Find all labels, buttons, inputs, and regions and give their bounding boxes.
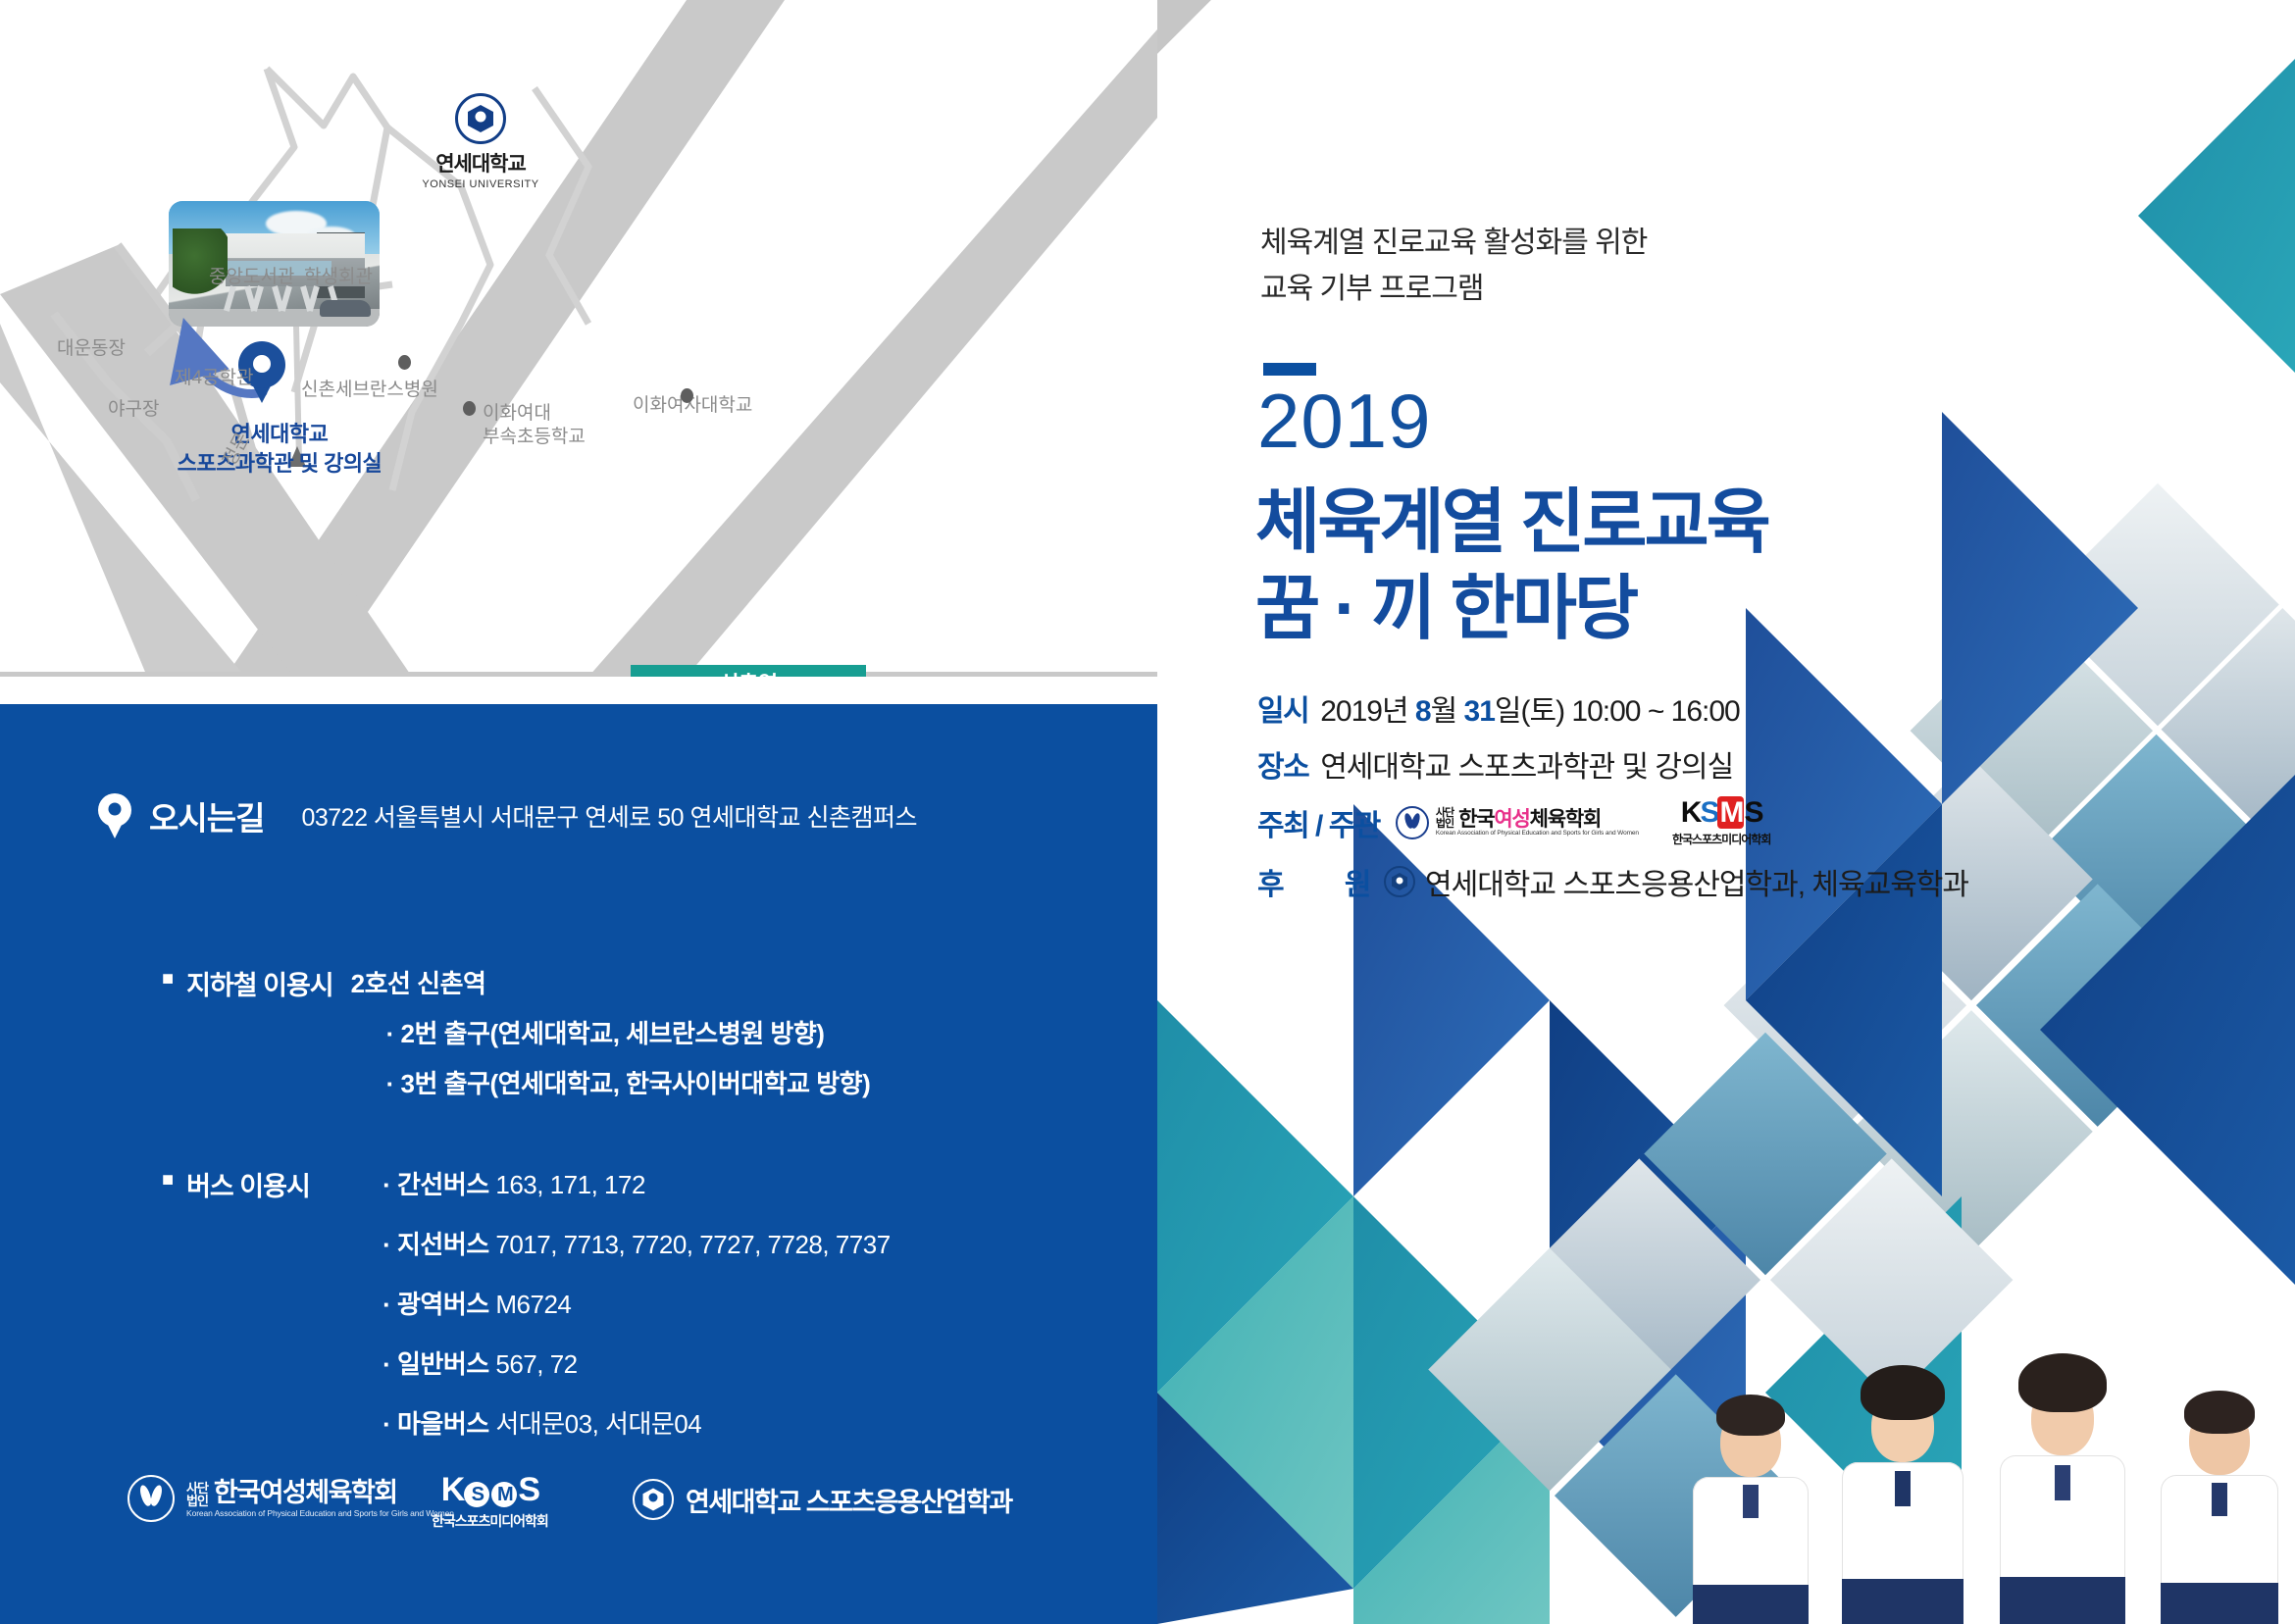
student-tie — [1743, 1485, 1759, 1518]
yonsei-crest-block: 연세대학교 YONSEI UNIVERSITY — [407, 93, 554, 190]
ksms-letter-k: K — [1681, 796, 1701, 829]
student-figure — [2143, 1377, 2295, 1624]
kaped-prefix-2: 법인 — [186, 1495, 208, 1507]
subway-line: 2호선 신촌역 — [351, 964, 871, 1000]
station-label-shinchon: 신촌역 — [631, 665, 866, 677]
directions-header: 오시는길 03722 서울특별시 서대문구 연세로 50 연세대학교 신촌캠퍼스 — [98, 792, 917, 839]
student-tie — [1895, 1471, 1911, 1506]
info-key-support-char-2: 원 — [1345, 860, 1370, 903]
bus-route-name: · 간선버스 — [382, 1170, 495, 1199]
host-logo-ksms: KSMS 한국스포츠미디어학회 — [1672, 798, 1770, 847]
event-year: 2019 — [1257, 382, 1432, 459]
kaped-name-part-3: 체육학회 — [1530, 808, 1601, 831]
date-month-suffix: 월 — [1431, 695, 1464, 728]
info-value-place: 연세대학교 스포츠과학관 및 강의실 — [1320, 742, 1733, 786]
event-info-block: 일시 2019년 8월 31일(토) 10:00 ~ 16:00 장소 연세대학… — [1257, 686, 1968, 916]
kicker-text: 체육계열 진로교육 활성화를 위한 교육 기부 프로그램 — [1260, 221, 1647, 312]
student-bottom — [2000, 1577, 2125, 1624]
kaped-name-part-1: 한국 — [1458, 808, 1494, 831]
info-value-support: 연세대학교 스포츠응용산업학과, 체육교육학과 — [1425, 860, 1968, 903]
subway-line-band — [0, 672, 1157, 677]
student-hair — [2018, 1353, 2107, 1412]
kicker-line-2: 교육 기부 프로그램 — [1260, 267, 1647, 313]
info-key-support: 후 원 — [1257, 860, 1370, 903]
bullet-square-icon: ■ — [162, 1165, 174, 1464]
info-row-host: 주최 / 주관 사단 법인 한국여성체육학회 — [1257, 798, 1968, 847]
bullet-square-icon: ■ — [162, 964, 174, 1100]
map-point-marker — [463, 401, 476, 416]
map-label: 신촌세브란스병원 — [301, 375, 438, 401]
directions-subway-items: 2호선 신촌역 · 2번 출구(연세대학교, 세브란스병원 방향) · 3번 출… — [351, 964, 871, 1100]
date-day-number: 31 — [1464, 695, 1495, 728]
bus-route-numbers: M6724 — [495, 1290, 571, 1319]
info-key-place: 장소 — [1257, 742, 1308, 786]
ksms-letter-m: M — [491, 1482, 517, 1507]
directions-bus-label: 버스 이용시 — [186, 1165, 365, 1464]
date-month-number: 8 — [1415, 695, 1431, 728]
bus-route-name: · 광역버스 — [382, 1290, 495, 1319]
map-label: 학생회관 — [304, 262, 373, 288]
bus-route-numbers: 7017, 7713, 7720, 7727, 7728, 7737 — [495, 1230, 890, 1259]
left-panel: 연세대학교 YONSEI UNIVERSITY — [0, 0, 1157, 1624]
logo-yonsei-dept: 연세대학교 스포츠응용산업학과 — [633, 1479, 1012, 1520]
ksms-letter-s2: S — [1744, 796, 1761, 829]
ksms-name-kr: 한국스포츠미디어학회 — [1672, 831, 1770, 847]
date-rest: 일(토) 10:00 ~ 16:00 — [1495, 695, 1740, 728]
directions-title: 오시는길 — [149, 792, 264, 839]
directions-bus-block: ■ 버스 이용시 · 간선버스 163, 171, 172· 지선버스 7017… — [162, 1165, 891, 1464]
directions-subway-block: ■ 지하철 이용시 2호선 신촌역 · 2번 출구(연세대학교, 세브란스병원 … — [162, 964, 870, 1100]
kaped-prefix-1: 사단 — [186, 1482, 208, 1495]
directions-address: 03722 서울특별시 서대문구 연세로 50 연세대학교 신촌캠퍼스 — [301, 798, 917, 834]
kaped-name: 한국여성체육학회 — [214, 1479, 397, 1506]
host-logo-kaped: 사단 법인 한국여성체육학회 Korean Association of Phy… — [1396, 806, 1639, 839]
venue-pin-caption-line2: 스포츠과학관 및 강의실 — [127, 449, 432, 479]
ksms-letter-m: M — [1717, 796, 1744, 829]
map-label: 중앙도서관 — [209, 262, 294, 288]
student-figure — [1824, 1354, 1981, 1624]
bus-route-row: · 일반버스 567, 72 — [382, 1345, 891, 1381]
bus-route-row: · 간선버스 163, 171, 172 — [382, 1165, 891, 1201]
student-hair — [1861, 1365, 1945, 1420]
host-logos: 사단 법인 한국여성체육학회 Korean Association of Phy… — [1396, 798, 1770, 847]
kaped-wordmark: 사단 법인 한국여성체육학회 Korean Association of Phy… — [1436, 808, 1639, 837]
info-row-support: 후 원 연세대학교 스포츠응용산업학과, 체육교육학과 — [1257, 860, 1968, 903]
yonsei-dept-name: 연세대학교 스포츠응용산업학과 — [686, 1481, 1012, 1519]
map-label: 대운동장 — [57, 333, 126, 360]
directions-subway-label: 지하철 이용시 — [186, 964, 333, 1100]
map-label: 야구장 — [108, 394, 159, 421]
map-label: 제4공학관 — [175, 363, 254, 389]
location-pin-icon — [98, 793, 131, 838]
kaped-emblem-icon — [127, 1475, 175, 1522]
venue-pin-caption-line1: 연세대학교 — [127, 420, 432, 449]
ksms-letter-k: K — [441, 1471, 464, 1508]
ksms-letter-s2: S — [518, 1471, 538, 1508]
directions-bus-routes: · 간선버스 163, 171, 172· 지선버스 7017, 7713, 7… — [382, 1165, 891, 1464]
info-key-host: 주최 / 주관 — [1257, 801, 1380, 844]
bus-route-row: · 광역버스 M6724 — [382, 1285, 891, 1321]
yonsei-crest-icon — [455, 93, 506, 144]
campus-map[interactable]: 연세대학교 YONSEI UNIVERSITY — [0, 0, 1157, 677]
map-point-marker — [681, 388, 693, 403]
bus-route-row: · 마을버스 서대문03, 서대문04 — [382, 1404, 891, 1441]
bus-route-name: · 지선버스 — [382, 1230, 495, 1259]
photo-car — [320, 300, 371, 317]
student-figure — [1981, 1342, 2143, 1624]
subway-exit: · 3번 출구(연세대학교, 한국사이버대학교 방향) — [386, 1064, 871, 1100]
student-bottom — [1842, 1579, 1963, 1624]
support-logo-yonsei: 연세대학교 스포츠응용산업학과, 체육교육학과 — [1384, 860, 1968, 903]
event-headline: 체육계열 진로교육 꿈 · 끼 한마당 — [1255, 481, 1768, 653]
kaped-prefix-2: 법인 — [1436, 819, 1453, 830]
students-photo-group — [1677, 1300, 2295, 1624]
yonsei-emblem-icon — [1384, 866, 1415, 897]
poster-root: 연세대학교 YONSEI UNIVERSITY — [0, 0, 2295, 1624]
info-key-support-char-1: 후 — [1257, 860, 1283, 903]
sponsor-logo-strip: 사단 법인 한국여성체육학회 Korean Association of Phy… — [0, 1469, 1157, 1548]
bus-route-name: · 일반버스 — [382, 1349, 495, 1379]
kaped-name-en: Korean Association of Physical Education… — [186, 1509, 454, 1518]
kaped-wordmark: 사단 법인 한국여성체육학회 Korean Association of Phy… — [186, 1479, 454, 1517]
bus-route-numbers: 서대문03, 서대문04 — [495, 1409, 701, 1439]
info-row-date: 일시 2019년 8월 31일(토) 10:00 ~ 16:00 — [1257, 686, 1968, 730]
accent-dash — [1263, 363, 1316, 376]
student-hair — [1716, 1395, 1785, 1436]
kicker-line-1: 체육계열 진로교육 활성화를 위한 — [1260, 221, 1647, 267]
kaped-emblem-icon — [1396, 806, 1429, 839]
ksms-letter-s: S — [1700, 796, 1717, 829]
info-row-place: 장소 연세대학교 스포츠과학관 및 강의실 — [1257, 742, 1968, 786]
ksms-name-kr: 한국스포츠미디어학회 — [432, 1511, 548, 1531]
bus-route-numbers: 163, 171, 172 — [495, 1170, 645, 1199]
student-tie — [2055, 1465, 2070, 1500]
logo-ksms: KSMS 한국스포츠미디어학회 — [432, 1471, 548, 1531]
info-key-date: 일시 — [1257, 686, 1308, 730]
kaped-name-part-2: 여성 — [1494, 808, 1529, 831]
headline-line-1: 체육계열 진로교육 — [1255, 481, 1768, 567]
info-value-date: 2019년 8월 31일(토) 10:00 ~ 16:00 — [1320, 686, 1740, 730]
right-panel: 체육계열 진로교육 활성화를 위한 교육 기부 프로그램 2019 체육계열 진… — [1157, 0, 2295, 1624]
date-year: 2019년 — [1320, 695, 1415, 728]
logo-kaped: 사단 법인 한국여성체육학회 Korean Association of Phy… — [127, 1475, 454, 1522]
venue-pin-caption: 연세대학교 스포츠과학관 및 강의실 — [127, 420, 432, 478]
yonsei-crest-name-en: YONSEI UNIVERSITY — [407, 178, 554, 190]
map-label: 이화여대 — [483, 398, 551, 425]
directions-panel: 오시는길 03722 서울특별시 서대문구 연세로 50 연세대학교 신촌캠퍼스… — [0, 704, 1157, 1624]
ksms-letter-s: S — [464, 1482, 489, 1507]
pin-head — [98, 793, 131, 827]
yonsei-crest-name-kr: 연세대학교 — [407, 148, 554, 178]
student-tie — [2212, 1483, 2227, 1516]
headline-line-2: 꿈 · 끼 한마당 — [1255, 567, 1768, 653]
student-hair — [2184, 1391, 2255, 1434]
map-label: 부속초등학교 — [483, 422, 586, 448]
bus-route-name: · 마을버스 — [382, 1409, 495, 1439]
kaped-name: 한국여성체육학회 — [1458, 809, 1601, 831]
student-bottom — [1693, 1585, 1809, 1624]
yonsei-emblem-icon — [633, 1479, 674, 1520]
student-figure — [1677, 1379, 1824, 1624]
subway-exit: · 2번 출구(연세대학교, 세브란스병원 방향) — [386, 1014, 871, 1050]
bus-route-row: · 지선버스 7017, 7713, 7720, 7727, 7728, 773… — [382, 1225, 891, 1261]
bus-route-numbers: 567, 72 — [495, 1349, 577, 1379]
map-point-marker — [398, 355, 411, 370]
ksms-wordmark: KSMS — [432, 1471, 548, 1509]
student-bottom — [2161, 1583, 2278, 1624]
kaped-name-en: Korean Association of Physical Education… — [1436, 831, 1639, 837]
ksms-wordmark: KSMS — [1672, 798, 1770, 828]
